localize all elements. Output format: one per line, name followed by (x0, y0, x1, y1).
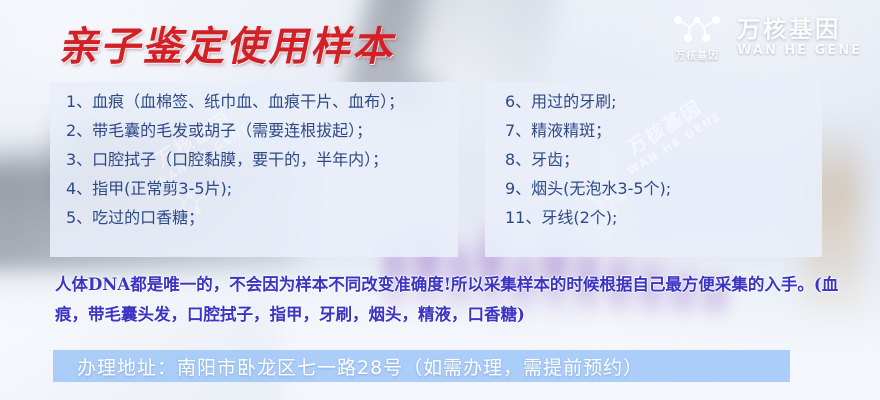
molecule-icon (671, 14, 723, 44)
sample-list-panel-right: 万核基因 WAN HE GENE 6、用过的牙刷; 7、精液精斑； 8、牙齿； … (485, 82, 822, 257)
list-item: 6、用过的牙刷; (485, 94, 822, 110)
explanatory-note: 人体DNA都是唯一的，不会因为样本不同改变准确度!所以采集样本的时候根据自己最方… (55, 270, 845, 330)
brand-lockup: 万核基因 万核基因 WAN HE GENE (671, 14, 862, 62)
brand-mark: 万核基因 (671, 14, 723, 62)
list-item: 3、口腔拭子（口腔黏膜，要干的，半年内）； (50, 152, 458, 168)
list-item: 7、精液精斑； (485, 123, 822, 139)
page-title: 亲子鉴定使用样本 (56, 14, 404, 72)
sample-list-left: 1、血痕（血棉签、纸巾血、血痕干片、血布）； 2、带毛囊的毛发或胡子（需要连根拔… (50, 82, 458, 226)
list-item: 9、烟头(无泡水3-5个); (485, 181, 822, 197)
brand-name-en: WAN HE GENE (737, 44, 862, 58)
brand-mark-text: 万核基因 (675, 47, 719, 62)
sample-list-panel-left: 万核基因 WAN HE GENE 1、血痕（血棉签、纸巾血、血痕干片、血布）； … (50, 82, 458, 257)
list-item: 8、牙齿； (485, 152, 822, 168)
brand-name-cn: 万核基因 (737, 18, 862, 43)
list-item: 11、牙线(2个); (485, 210, 822, 226)
list-item: 5、吃过的口香糖； (50, 210, 458, 226)
sample-list-right: 6、用过的牙刷; 7、精液精斑； 8、牙齿； 9、烟头(无泡水3-5个); 11… (485, 82, 822, 226)
brand-wordmark: 万核基因 WAN HE GENE (737, 18, 862, 59)
address-bar: 办理地址：南阳市卧龙区七一路28号（如需办理，需提前预约） (53, 350, 790, 382)
list-item: 1、血痕（血棉签、纸巾血、血痕干片、血布）； (50, 94, 458, 110)
poster-canvas: 亲子鉴定使用样本 (0, 0, 880, 400)
address-text: 办理地址：南阳市卧龙区七一路28号（如需办理，需提前预约） (53, 353, 643, 380)
list-item: 2、带毛囊的毛发或胡子（需要连根拔起）； (50, 123, 458, 139)
list-item: 4、指甲(正常剪3-5片); (50, 181, 458, 197)
